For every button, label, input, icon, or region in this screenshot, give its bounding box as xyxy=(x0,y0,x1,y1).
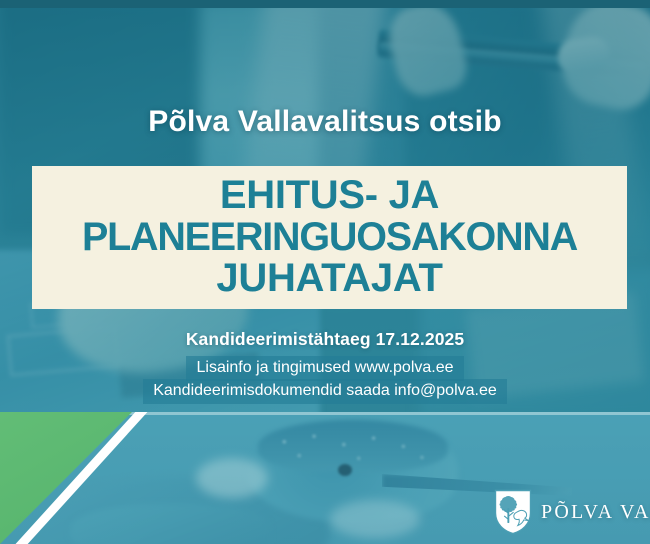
top-edge-band xyxy=(0,0,650,8)
job-title-line-1: EHITUS- JA xyxy=(38,175,621,217)
job-title-line-2: PLANEERINGUOSAKONNA xyxy=(38,217,621,258)
job-title-line-3: JUHATAJAT xyxy=(38,258,621,300)
logo-text: PÕLVA VALD xyxy=(541,501,650,524)
coat-of-arms-shield-icon xyxy=(494,489,532,535)
contact-info: Lisainfo ja tingimused www.polva.ee Kand… xyxy=(0,356,650,404)
job-title: EHITUS- JA PLANEERINGUOSAKONNA JUHATAJAT xyxy=(32,175,627,299)
polva-vald-logo: PÕLVA VALD xyxy=(494,489,650,535)
application-deadline: Kandideerimistähtaeg 17.12.2025 xyxy=(0,329,650,350)
job-advertisement-poster: Põlva Vallavalitsus otsib EHITUS- JA PLA… xyxy=(0,0,650,544)
info-line-website: Lisainfo ja tingimused www.polva.ee xyxy=(186,356,463,381)
info-line-email: Kandideerimisdokumendid saada info@polva… xyxy=(143,379,507,404)
job-title-panel: EHITUS- JA PLANEERINGUOSAKONNA JUHATAJAT xyxy=(32,166,627,309)
page-headline: Põlva Vallavalitsus otsib xyxy=(0,105,650,139)
